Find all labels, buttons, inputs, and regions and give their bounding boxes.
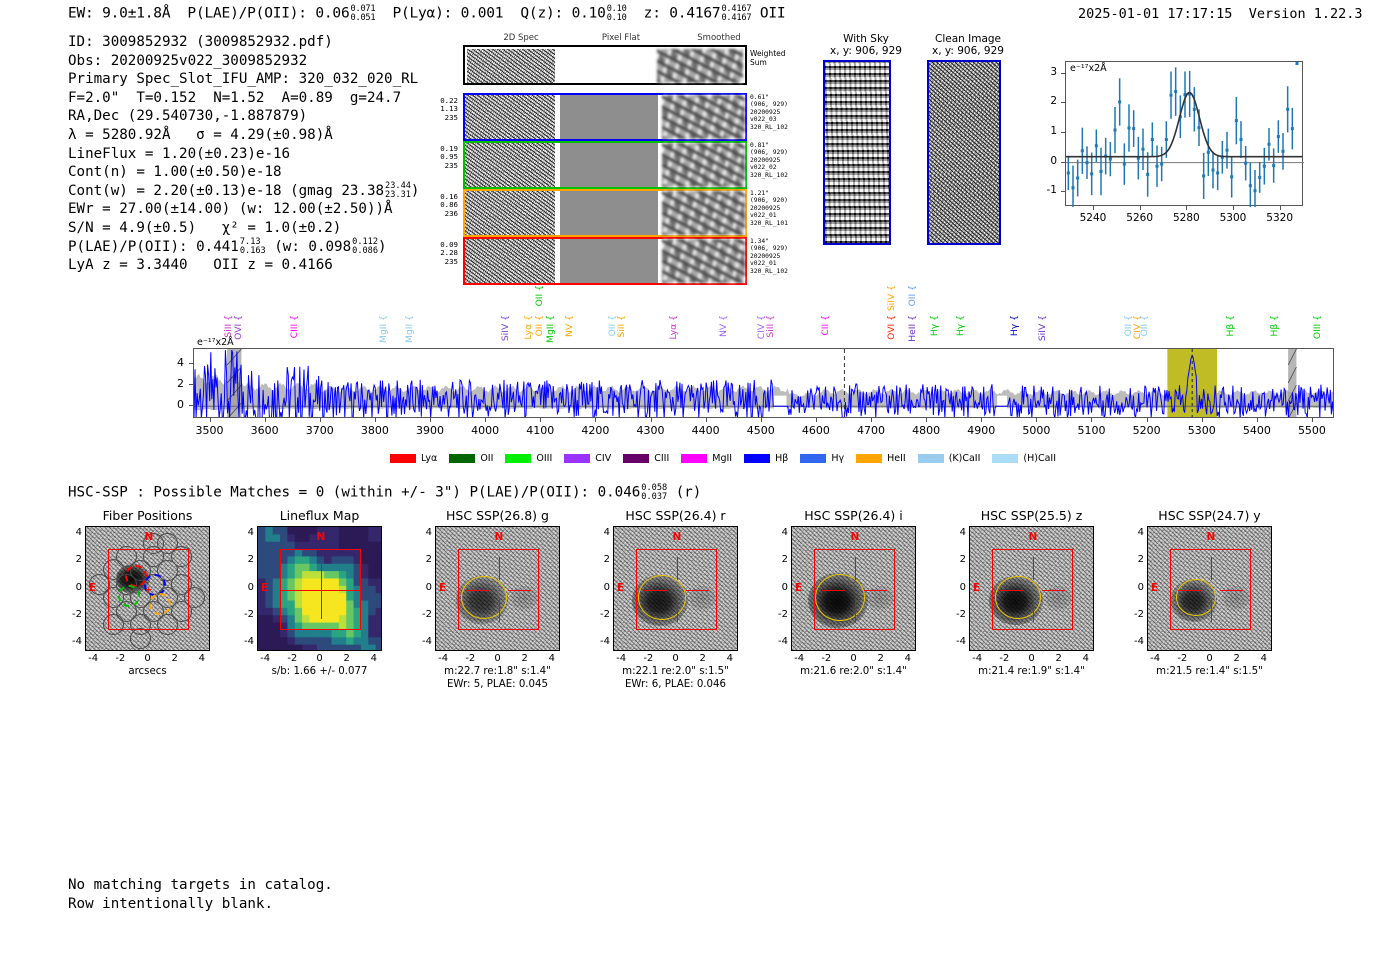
info-radec: RA,Dec (29.540730,-1.887879) xyxy=(68,107,419,126)
info-lambda-sigma: λ = 5280.92Å σ = 4.29(±0.98)Å xyxy=(68,126,419,145)
spectrum-line-label: SiIV { xyxy=(886,285,897,311)
cutout-caption-line1: m:21.6 re:2.0" s:1.4" xyxy=(766,666,941,679)
legend-label: (H)CaII xyxy=(1023,453,1056,464)
legend-label: OIII xyxy=(536,453,552,464)
spectrum-x-tick-label: 3700 xyxy=(300,424,340,437)
legend-item: OIII xyxy=(505,453,552,464)
cutout-panel: Lineflux MapNE-4-4-2-2002244s/b: 1.66 +/… xyxy=(232,508,407,679)
cutout-x-tick-label: 4 xyxy=(1076,653,1096,664)
spectrum-line-label: MgII { xyxy=(378,315,389,343)
cutout-caption: m:22.1 re:2.0" s:1.5"EWr: 6, PLAE: 0.046 xyxy=(588,666,763,691)
cutout-x-tick-label: 2 xyxy=(515,653,535,664)
spectrum-line-label: Hβ { xyxy=(1269,315,1280,337)
tick-mark xyxy=(981,418,982,422)
spec2d-row xyxy=(463,141,747,189)
legend-swatch xyxy=(390,454,416,463)
spectrum-line-label: MgII { xyxy=(545,315,556,343)
cutout-y-tick-label: 0 xyxy=(415,582,432,593)
legend-label: (K)CaII xyxy=(949,453,981,464)
tick-mark xyxy=(1061,191,1065,192)
cutout-x-tick-label: 2 xyxy=(337,653,357,664)
cutout-panel: HSC SSP(25.5) zNE-4-4-2-2002244m:21.4 re… xyxy=(944,508,1119,679)
spectrum-line-label: SiIV { xyxy=(500,315,511,341)
cutout-caption: m:21.4 re:1.9" s:1.4" xyxy=(944,666,1119,679)
cutout-y-tick-label: -4 xyxy=(1127,636,1144,647)
cutout-title: Lineflux Map xyxy=(232,508,407,523)
tick-mark xyxy=(1061,132,1065,133)
east-indicator: E xyxy=(973,582,980,594)
version-label: Version 1.22.3 xyxy=(1249,6,1363,22)
linefit-y-tick-label: 1 xyxy=(1039,125,1057,137)
cutout-x-tick-label: -4 xyxy=(1145,653,1165,664)
cutout-title: HSC SSP(26.4) i xyxy=(766,508,941,523)
spectrum-x-tick-label: 4500 xyxy=(741,424,781,437)
cutout-x-tick-label: -2 xyxy=(816,653,836,664)
linefit-x-tick-label: 5280 xyxy=(1171,212,1201,224)
spectrum-x-tick-label: 4300 xyxy=(631,424,671,437)
cutout-x-tick-label: 0 xyxy=(1200,653,1220,664)
spec2d-row-right-labels: 0.61"(906, 929)20200925v022_03320_RL_102 xyxy=(750,94,800,131)
cutout-y-tick-label: 2 xyxy=(237,554,254,565)
tick-mark xyxy=(485,418,486,422)
clean-image xyxy=(927,60,1001,245)
legend-item: HeII xyxy=(856,453,906,464)
weighted-sum-row xyxy=(463,45,747,85)
cutout-y-tick-label: 4 xyxy=(415,527,432,538)
cutout-caption-line1: m:22.1 re:2.0" s:1.5" xyxy=(588,666,763,679)
cutout-caption: s/b: 1.66 +/- 0.077 xyxy=(232,666,407,679)
cutout-image[interactable]: NE xyxy=(257,526,382,651)
spec2d-row-right-labels: 0.81"(906, 929)20200925v022_02320_RL_102 xyxy=(750,142,800,179)
cutout-image[interactable]: +NE xyxy=(85,526,210,651)
cutout-x-tick-label: 4 xyxy=(364,653,384,664)
stamp-col-title-2dspec: 2D Spec xyxy=(476,33,566,43)
cutout-y-tick-label: 4 xyxy=(593,527,610,538)
two-d-spectra-panel: 2D Spec Pixel Flat Smoothed WeightedSum … xyxy=(430,33,760,261)
legend-swatch xyxy=(623,454,649,463)
cutout-x-tick-label: -4 xyxy=(433,653,453,664)
stamp-col-title-smoothed: Smoothed xyxy=(674,33,764,43)
cutout-y-tick-label: 0 xyxy=(1127,582,1144,593)
tick-mark xyxy=(540,418,541,422)
spectrum-x-tick-label: 3900 xyxy=(410,424,450,437)
legend-swatch xyxy=(449,454,475,463)
tick-mark xyxy=(1257,418,1258,422)
tick-mark xyxy=(871,418,872,422)
spectrum-line-label: HeII { xyxy=(907,315,918,342)
info-id: ID: 3009852932 (3009852932.pdf) xyxy=(68,33,419,52)
crosshair-horizontal xyxy=(280,590,362,591)
cutout-x-tick-label: -2 xyxy=(994,653,1014,664)
tick-mark xyxy=(706,418,707,422)
north-indicator: N xyxy=(145,531,154,543)
fiber-circle xyxy=(130,628,151,649)
tick-mark xyxy=(265,418,266,422)
cutout-x-tick-label: 4 xyxy=(898,653,918,664)
cutout-y-tick-label: -4 xyxy=(593,636,610,647)
cutout-image[interactable]: NE xyxy=(969,526,1094,651)
spec2d-row-right-labels: 1.21"(906, 920)20200925v022_01320_RL_101 xyxy=(750,190,800,227)
spectrum-x-tick-label: 5000 xyxy=(1016,424,1056,437)
ifu-footprint-box xyxy=(458,549,540,631)
spectrum-line-label: Lyα { xyxy=(523,315,534,340)
spectrum-x-tick-label: 4800 xyxy=(906,424,946,437)
north-indicator: N xyxy=(1029,531,1038,543)
linefit-y-tick-label: 3 xyxy=(1039,66,1057,78)
spectrum-line-label: Lyα { xyxy=(668,315,679,340)
linefit-x-tick-label: 5240 xyxy=(1078,212,1108,224)
cutout-y-tick-label: -2 xyxy=(949,609,966,620)
spectrum-x-tick-label: 4700 xyxy=(851,424,891,437)
full-spectrum-panel: SiII {OVI {CIII {MgII {MgII {SiIV {Lyα {… xyxy=(60,275,1350,475)
cutout-caption-line1: m:21.4 re:1.9" s:1.4" xyxy=(944,666,1119,679)
north-indicator: N xyxy=(495,531,504,543)
spectrum-x-tick-label: 5100 xyxy=(1071,424,1111,437)
tick-mark xyxy=(926,418,927,422)
tick-mark xyxy=(1233,206,1234,210)
cutout-xlabel: arcsecs xyxy=(60,666,235,679)
clean-image-coords: x, y: 906, 929 xyxy=(912,45,1024,57)
cutout-y-tick-label: -4 xyxy=(415,636,432,647)
spectrum-x-tick-label: 5200 xyxy=(1127,424,1167,437)
legend-item: Hγ xyxy=(800,453,844,464)
cutout-y-tick-label: -4 xyxy=(949,636,966,647)
legend-swatch xyxy=(992,454,1018,463)
spectrum-line-label: Hγ { xyxy=(1009,315,1020,336)
with-sky-image xyxy=(823,60,891,245)
legend-item: OII xyxy=(449,453,493,464)
footer-line-1: No matching targets in catalog. xyxy=(68,876,333,895)
spec2d-row-right-labels: 1.34"(906, 929)20200925v022_01320_RL_102 xyxy=(750,238,800,275)
cutout-caption: m:21.5 re:1.4" s:1.5" xyxy=(1122,666,1297,679)
legend-label: MgII xyxy=(712,453,732,464)
tick-mark xyxy=(1312,418,1313,422)
cutout-caption-line1: m:21.5 re:1.4" s:1.5" xyxy=(1122,666,1297,679)
spectrum-x-tick-label: 4000 xyxy=(465,424,505,437)
cutout-x-tick-label: 2 xyxy=(1049,653,1069,664)
legend-item: MgII xyxy=(681,453,732,464)
legend-swatch xyxy=(800,454,826,463)
cutout-y-tick-label: -4 xyxy=(65,636,82,647)
spectrum-svg xyxy=(194,349,1334,418)
cutout-panel: HSC SSP(26.4) rNE-4-4-2-2002244m:22.1 re… xyxy=(588,508,763,691)
header-plya: P(Lyα): 0.001 xyxy=(392,6,503,22)
legend-item: CIV xyxy=(564,453,611,464)
spectrum-x-tick-label: 3500 xyxy=(190,424,230,437)
with-sky-title: With Sky xyxy=(812,33,920,45)
spectrum-line-label: SiII { xyxy=(616,315,627,338)
header-z: z: 0.4167 xyxy=(644,6,721,22)
cutout-y-tick-label: -4 xyxy=(237,636,254,647)
cutout-x-tick-label: 0 xyxy=(1022,653,1042,664)
cutout-y-tick-label: 0 xyxy=(771,582,788,593)
cutout-y-tick-label: 4 xyxy=(1127,527,1144,538)
header-qz: Q(z): 0.10 xyxy=(520,6,605,22)
cutout-y-tick-label: 2 xyxy=(415,554,432,565)
east-indicator: E xyxy=(1151,582,1158,594)
east-indicator: E xyxy=(617,582,624,594)
cutout-panel: Fiber Positions+NE-4-4-2-2002244arcsecs xyxy=(60,508,235,679)
cutout-x-tick-label: 0 xyxy=(488,653,508,664)
info-redshifts: LyA z = 3.3440 OII z = 0.4166 xyxy=(68,256,419,275)
ifu-footprint-box xyxy=(992,549,1074,631)
cutout-y-tick-label: -2 xyxy=(65,609,82,620)
tick-mark xyxy=(189,405,193,406)
info-sn-chi2: S/N = 4.9(±0.5) χ² = 1.0(±0.2) xyxy=(68,219,419,238)
spectrum-line-label: NV { xyxy=(564,315,575,337)
cutout-x-tick-label: 0 xyxy=(844,653,864,664)
info-ewr: EWr = 27.00(±14.00) (w: 12.00(±2.50))Å xyxy=(68,200,419,219)
cutout-image[interactable]: NE xyxy=(791,526,916,651)
info-primary-slot: Primary Spec_Slot_IFU_AMP: 320_032_020_R… xyxy=(68,70,419,89)
cutout-x-tick-label: 2 xyxy=(693,653,713,664)
header-z-type: OII xyxy=(760,6,786,22)
cutout-y-tick-label: -2 xyxy=(593,609,610,620)
spectrum-y-tick-label: 4 xyxy=(168,356,184,369)
spectrum-line-label: CIII { xyxy=(289,315,300,338)
cutout-x-tick-label: 0 xyxy=(310,653,330,664)
spec2d-row-left-labels: 0.160.86236 xyxy=(422,193,458,218)
tick-mark xyxy=(189,363,193,364)
cutout-y-tick-label: 2 xyxy=(949,554,966,565)
ifu-footprint-box xyxy=(1170,549,1252,631)
cutout-x-tick-label: -2 xyxy=(110,653,130,664)
east-indicator: E xyxy=(261,582,268,594)
spectrum-y-tick-label: 0 xyxy=(168,398,184,411)
info-obs: Obs: 20200925v022_3009852932 xyxy=(68,52,419,71)
ifu-footprint-box xyxy=(814,549,896,631)
tick-mark xyxy=(320,418,321,422)
cutout-caption: arcsecs xyxy=(60,666,235,679)
spectrum-line-label: Hγ { xyxy=(955,315,966,336)
legend-label: CIV xyxy=(595,453,611,464)
cutout-caption: m:22.7 re:1.8" s:1.4"EWr: 5, PLAE: 0.045 xyxy=(410,666,585,691)
spectrum-line-label: MgII { xyxy=(404,315,415,343)
legend-item: (H)CaII xyxy=(992,453,1056,464)
spectrum-x-tick-label: 4200 xyxy=(575,424,615,437)
tick-mark xyxy=(1061,102,1065,103)
spec2d-row xyxy=(463,189,747,237)
hsc-summary-text: HSC-SSP : Possible Matches = 0 (within +… xyxy=(68,485,640,501)
legend-label: Hγ xyxy=(831,453,844,464)
cutout-panel: HSC SSP(26.8) gNE-4-4-2-2002244m:22.7 re… xyxy=(410,508,585,691)
north-indicator: N xyxy=(673,531,682,543)
cutout-y-tick-label: 0 xyxy=(949,582,966,593)
cutout-x-tick-label: 2 xyxy=(165,653,185,664)
tick-mark xyxy=(1093,206,1094,210)
tick-mark xyxy=(1280,206,1281,210)
cutout-x-tick-label: -2 xyxy=(1172,653,1192,664)
east-indicator: E xyxy=(795,582,802,594)
spectrum-line-label: SiIV { xyxy=(1037,315,1048,341)
info-cont-n: Cont(n) = 1.00(±0.50)e-18 xyxy=(68,163,419,182)
legend-label: CIII xyxy=(654,453,669,464)
spectrum-line-label: OII { xyxy=(534,285,545,306)
spectrum-line-label: OII { xyxy=(534,315,545,336)
legend-swatch xyxy=(856,454,882,463)
cutout-x-tick-label: -4 xyxy=(789,653,809,664)
spectrum-line-label: CII { xyxy=(820,315,831,336)
spectrum-y-tick-label: 2 xyxy=(168,377,184,390)
tick-mark xyxy=(189,384,193,385)
spectrum-x-tick-label: 4900 xyxy=(961,424,1001,437)
cutout-y-tick-label: 2 xyxy=(1127,554,1144,565)
linefit-y-tick-label: 2 xyxy=(1039,95,1057,107)
spectrum-line-label: OII { xyxy=(907,285,918,306)
legend-swatch xyxy=(681,454,707,463)
legend-label: HeII xyxy=(887,453,906,464)
timestamp: 2025-01-01 17:17:15 xyxy=(1078,6,1232,22)
cutout-caption: m:21.6 re:2.0" s:1.4" xyxy=(766,666,941,679)
info-throughput: F=2.0" T=0.152 N=1.52 A=0.89 g=24.7 xyxy=(68,89,419,108)
cutout-image[interactable]: NE xyxy=(1147,526,1272,651)
cutout-y-tick-label: -2 xyxy=(1127,609,1144,620)
north-indicator: N xyxy=(851,531,860,543)
header-plae: P(LAE)/P(OII): 0.06 xyxy=(187,6,349,22)
cutout-caption-line2: EWr: 5, PLAE: 0.045 xyxy=(410,679,585,692)
legend-swatch xyxy=(564,454,590,463)
footer-notes: No matching targets in catalog. Row inte… xyxy=(68,876,333,913)
spectrum-line-label: Hγ { xyxy=(929,315,940,336)
linefit-y-tick-label: -1 xyxy=(1039,184,1057,196)
cutout-x-tick-label: -2 xyxy=(638,653,658,664)
cutout-y-tick-label: 4 xyxy=(949,527,966,538)
east-indicator: E xyxy=(89,582,96,594)
linefit-flux-annotation: e⁻¹⁷x2Å xyxy=(1070,63,1107,74)
tick-mark xyxy=(1036,418,1037,422)
cutout-y-tick-label: -2 xyxy=(771,609,788,620)
legend-label: Lyα xyxy=(421,453,437,464)
legend-swatch xyxy=(918,454,944,463)
spectrum-x-tick-label: 5400 xyxy=(1237,424,1277,437)
tick-mark xyxy=(1061,162,1065,163)
cutout-y-tick-label: 0 xyxy=(65,582,82,593)
with-sky-coords: x, y: 906, 929 xyxy=(812,45,920,57)
cutout-caption-line2: EWr: 6, PLAE: 0.046 xyxy=(588,679,763,692)
clean-image-title: Clean Image xyxy=(912,33,1024,45)
spectrum-line-label: OVI { xyxy=(233,315,244,340)
cutout-caption-line1: s/b: 1.66 +/- 0.077 xyxy=(232,666,407,679)
spectrum-line-label: OII { xyxy=(1139,315,1150,336)
spectrum-line-label: Hβ { xyxy=(1225,315,1236,337)
cutout-y-tick-label: 0 xyxy=(593,582,610,593)
spectrum-x-tick-label: 5500 xyxy=(1292,424,1332,437)
tick-mark xyxy=(430,418,431,422)
tick-mark xyxy=(816,418,817,422)
ifu-footprint-box xyxy=(636,549,718,631)
tick-mark xyxy=(761,418,762,422)
legend-swatch xyxy=(505,454,531,463)
spectrum-axes xyxy=(193,348,1334,418)
cutout-panel: HSC SSP(26.4) iNE-4-4-2-2002244m:21.6 re… xyxy=(766,508,941,679)
cutout-y-tick-label: 4 xyxy=(771,527,788,538)
cutout-title: HSC SSP(24.7) y xyxy=(1122,508,1297,523)
spec2d-row-left-labels: 0.190.95235 xyxy=(422,145,458,170)
tick-mark xyxy=(651,418,652,422)
cutout-title: Fiber Positions xyxy=(60,508,235,523)
cutout-image[interactable]: NE xyxy=(613,526,738,651)
linefit-x-tick-label: 5300 xyxy=(1218,212,1248,224)
spectrum-line-label: SiII { xyxy=(765,315,776,338)
linefit-x-tick-label: 5320 xyxy=(1265,212,1295,224)
east-indicator: E xyxy=(439,582,446,594)
cutout-caption-line1: m:22.7 re:1.8" s:1.4" xyxy=(410,666,585,679)
spectrum-flux-annotation: e⁻¹⁷x2Å xyxy=(197,337,234,348)
legend-item: (K)CaII xyxy=(918,453,981,464)
hsc-ssp-summary: HSC-SSP : Possible Matches = 0 (within +… xyxy=(68,484,701,501)
legend-label: OII xyxy=(480,453,493,464)
cutout-x-tick-label: 2 xyxy=(1227,653,1247,664)
source-info-block: ID: 3009852932 (3009852932.pdf) Obs: 202… xyxy=(68,33,419,275)
cutout-x-tick-label: -4 xyxy=(967,653,987,664)
tick-mark xyxy=(1140,206,1141,210)
tick-mark xyxy=(375,418,376,422)
info-lineflux: LineFlux = 1.20(±0.23)e-16 xyxy=(68,145,419,164)
stamp-col-title-pixelflat: Pixel Flat xyxy=(576,33,666,43)
cutout-y-tick-label: -2 xyxy=(415,609,432,620)
spec2d-row xyxy=(463,93,747,141)
tick-mark xyxy=(1202,418,1203,422)
tick-mark xyxy=(1061,73,1065,74)
cutout-x-tick-label: -4 xyxy=(255,653,275,664)
spectrum-x-tick-label: 5300 xyxy=(1182,424,1222,437)
spectrum-line-label: OIII { xyxy=(1312,315,1323,339)
cutout-x-tick-label: -2 xyxy=(282,653,302,664)
cutout-x-tick-label: -4 xyxy=(611,653,631,664)
cutout-y-tick-label: -4 xyxy=(771,636,788,647)
spectrum-x-tick-label: 3800 xyxy=(355,424,395,437)
tick-mark xyxy=(1091,418,1092,422)
cutout-y-tick-label: 0 xyxy=(237,582,254,593)
cutout-panel: HSC SSP(24.7) yNE-4-4-2-2002244m:21.5 re… xyxy=(1122,508,1297,679)
cutout-title: HSC SSP(25.5) z xyxy=(944,508,1119,523)
cutout-x-tick-label: 4 xyxy=(720,653,740,664)
tick-mark xyxy=(210,418,211,422)
tick-mark xyxy=(1186,206,1187,210)
ifu-footprint-box xyxy=(108,549,190,631)
spectrum-line-label: OVI { xyxy=(886,315,897,340)
hsc-summary-band: (r) xyxy=(676,485,702,501)
cutout-y-tick-label: 2 xyxy=(771,554,788,565)
emission-line-fit-plot: e⁻¹⁷x2Å 52405260528053005320 -10123 xyxy=(1043,55,1305,240)
header-timestamp-version: 2025-01-01 17:17:15 Version 1.22.3 xyxy=(1078,6,1363,22)
cutout-y-tick-label: 2 xyxy=(593,554,610,565)
header-ew: EW: 9.0±1.8Å xyxy=(68,6,170,22)
cutout-x-tick-label: 4 xyxy=(542,653,562,664)
cutout-title: HSC SSP(26.8) g xyxy=(410,508,585,523)
info-plae-ratio: P(LAE)/P(OII): 0.4417.130.163 (w: 0.0980… xyxy=(68,238,419,257)
spectrum-legend: LyαOIIOIIICIVCIIIMgIIHβHγHeII(K)CaII(H)C… xyxy=(390,448,1068,467)
header-summary-line: EW: 9.0±1.8Å P(LAE)/P(OII): 0.060.0710.0… xyxy=(68,5,785,22)
cutout-y-tick-label: 4 xyxy=(237,527,254,538)
cutout-y-tick-label: 2 xyxy=(65,554,82,565)
spectrum-x-tick-label: 3600 xyxy=(245,424,285,437)
legend-item: CIII xyxy=(623,453,669,464)
legend-label: Hβ xyxy=(775,453,788,464)
linefit-x-tick-label: 5260 xyxy=(1125,212,1155,224)
cutout-image[interactable]: NE xyxy=(435,526,560,651)
linefit-y-tick-label: 0 xyxy=(1039,155,1057,167)
linefit-svg xyxy=(1066,62,1304,207)
legend-item: Hβ xyxy=(744,453,788,464)
tick-mark xyxy=(595,418,596,422)
spec2d-row-left-labels: 0.221.13235 xyxy=(422,97,458,122)
info-cont-w: Cont(w) = 2.20(±0.13)e-18 (gmag 23.3823.… xyxy=(68,182,419,201)
cutout-x-tick-label: 4 xyxy=(192,653,212,664)
linefit-axes: e⁻¹⁷x2Å xyxy=(1065,61,1303,206)
spectrum-line-label: NV { xyxy=(718,315,729,337)
footer-line-2: Row intentionally blank. xyxy=(68,895,333,914)
